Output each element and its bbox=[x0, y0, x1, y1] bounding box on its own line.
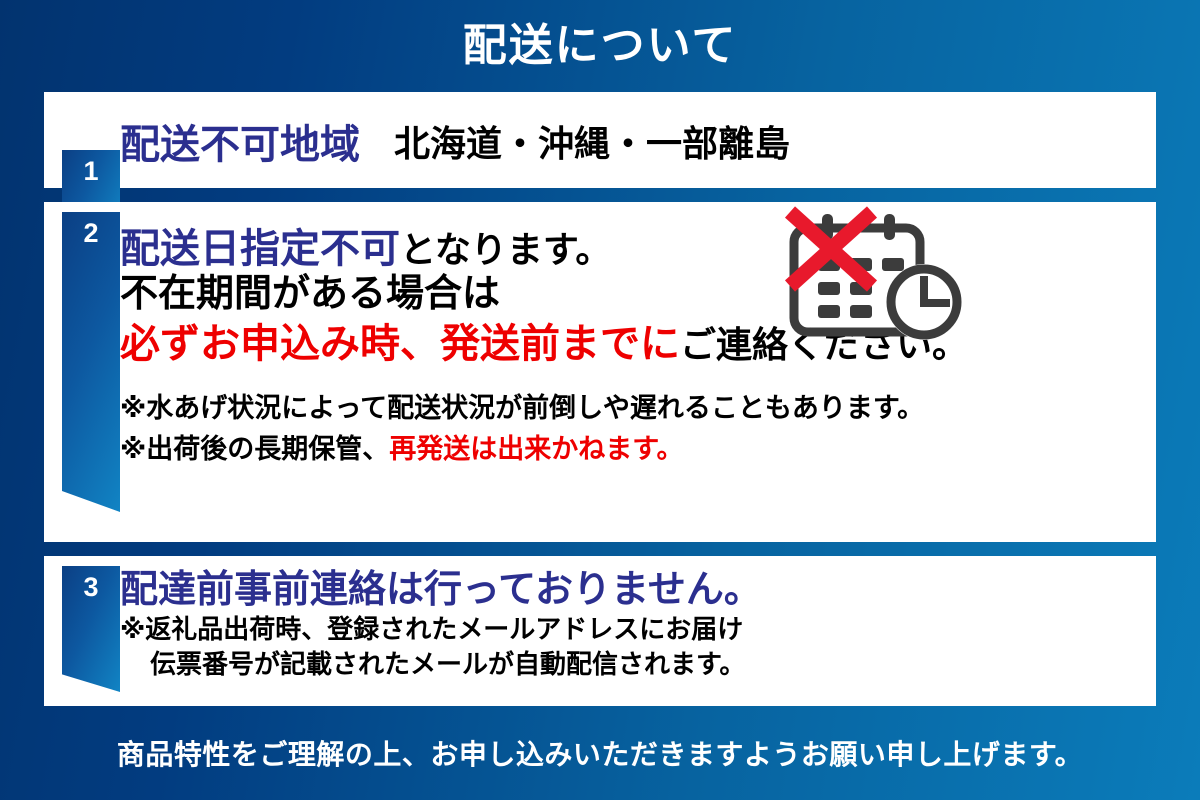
section-2-heading-rest: となります。 bbox=[400, 229, 611, 270]
section-1-heading: 配送不可地域 bbox=[120, 112, 360, 170]
section-card-2: 2 bbox=[44, 202, 1156, 542]
section-3-note-line-1: ※返礼品出荷時、登録されたメールアドレスにお届け bbox=[120, 612, 1142, 647]
section-number-2: 2 bbox=[83, 212, 98, 249]
section-2-heading-line: 配送日指定不可となります。 bbox=[120, 228, 1142, 271]
section-2-alert-text: 必ずお申込み時、発送前までに bbox=[120, 322, 680, 366]
section-2-note-2-prefix: ※出荷後の長期保管、 bbox=[120, 434, 389, 464]
section-body-2: 配送日指定不可となります。 不在期間がある場合は 必ずお申込み時、発送前までにご… bbox=[120, 202, 1156, 542]
section-card-3: 3 配達前事前連絡は行っておりません。 ※返礼品出荷時、登録されたメールアドレス… bbox=[44, 556, 1156, 706]
page-title: 配送について bbox=[463, 24, 738, 68]
section-number-badge-2: 2 bbox=[62, 212, 120, 512]
section-2-line-2: 不在期間がある場合は bbox=[120, 271, 1142, 317]
section-body-1: 配送不可地域 北海道・沖縄・一部離島 bbox=[120, 110, 1156, 170]
title-bar: 配送について bbox=[0, 0, 1200, 92]
section-2-heading-highlight: 配送日指定不可 bbox=[120, 227, 400, 271]
section-3-heading: 配達前事前連絡は行っておりません。 bbox=[120, 570, 1142, 612]
calendar-clock-no-icon bbox=[776, 206, 986, 346]
section-body-3: 配達前事前連絡は行っておりません。 ※返礼品出荷時、登録されたメールアドレスにお… bbox=[120, 556, 1156, 706]
footer-bar: 商品特性をご理解の上、お申し込みいただきますようお願い申し上げます。 bbox=[0, 706, 1200, 800]
section-2-notes: ※水あげ状況によって配送状況が前倒しや遅れることもあります。 ※出荷後の長期保管… bbox=[120, 388, 1142, 472]
section-2-note-2-alert: 再発送は出来かねます。 bbox=[389, 434, 683, 464]
footer-text: 商品特性をご理解の上、お申し込みいただきますようお願い申し上げます。 bbox=[117, 733, 1083, 773]
section-card-1: 1 配送不可地域 北海道・沖縄・一部離島 bbox=[44, 92, 1156, 188]
sections-container: 1 配送不可地域 北海道・沖縄・一部離島 2 bbox=[0, 92, 1200, 706]
section-2-note-1: ※水あげ状況によって配送状況が前倒しや遅れることもあります。 bbox=[120, 388, 1142, 430]
section-3-note-line-2: 伝票番号が記載されたメールが自動配信されます。 bbox=[120, 647, 1142, 682]
section-number-3: 3 bbox=[83, 566, 98, 603]
badge-wrap-3: 3 bbox=[44, 556, 120, 706]
section-2-note-2: ※出荷後の長期保管、再発送は出来かねます。 bbox=[120, 429, 1142, 471]
section-number-1: 1 bbox=[83, 150, 98, 187]
shipping-notice-graphic: 配送について 1 配送不可地域 北海道・沖縄・一部離島 2 bbox=[0, 0, 1200, 800]
section-1-value: 北海道・沖縄・一部離島 bbox=[394, 115, 790, 167]
section-2-line-3: 必ずお申込み時、発送前までにご連絡ください。 bbox=[120, 320, 1142, 368]
badge-wrap-2: 2 bbox=[44, 202, 120, 542]
section-number-badge-3: 3 bbox=[62, 566, 120, 692]
